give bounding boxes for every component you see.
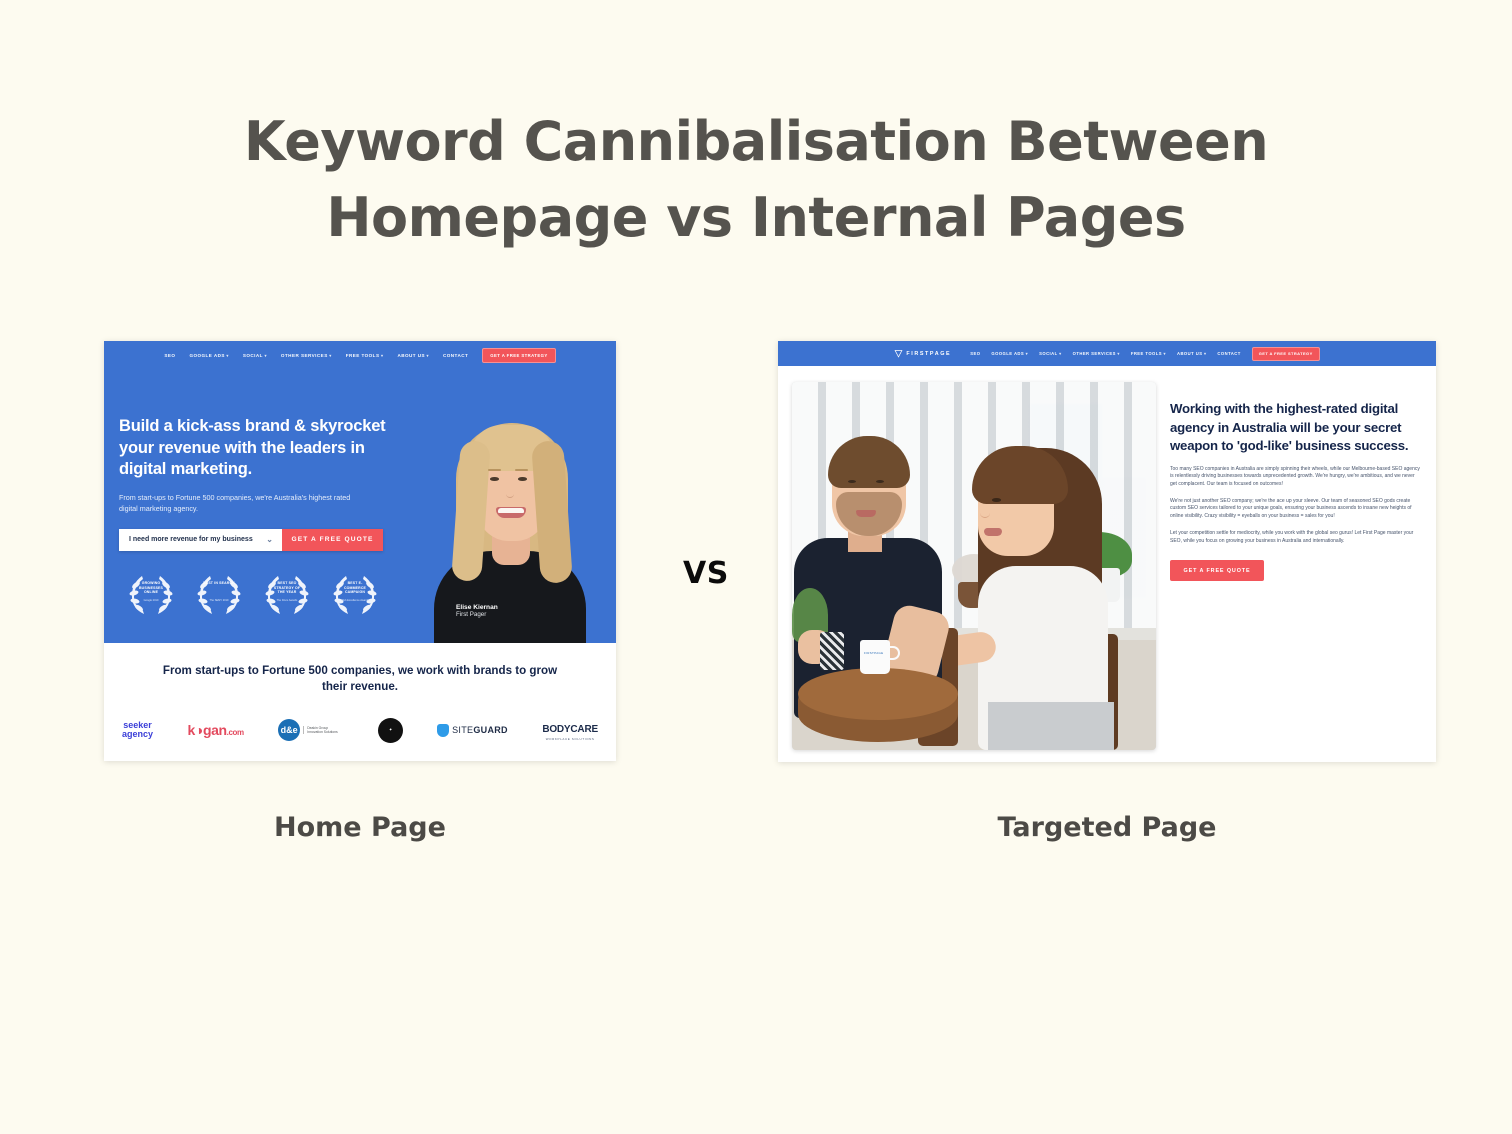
chevron-down-icon: ▾ [264,353,266,358]
chevron-down-icon: ▾ [226,353,228,358]
nav-item-seo[interactable]: SEO [970,351,980,356]
firstpage-logo[interactable]: FIRSTPAGE [894,349,951,358]
nav-cta-get-free-strategy[interactable]: GET A FREE STRATEGY [1252,347,1320,361]
brand-logo-tupperware: Tupperware [450,759,508,761]
chevron-down-icon: ▾ [329,353,331,358]
targetpage-paragraph-1: Too many SEO companies in Australia are … [1170,466,1422,488]
title-line-2: Homepage vs Internal Pages [0,180,1512,256]
nav-item-free-tools[interactable]: FREE TOOLS▾ [1131,351,1166,356]
nav-item-social[interactable]: SOCIAL▾ [243,353,267,358]
nav-item-google-ads[interactable]: GOOGLE ADS▾ [189,353,228,358]
award-subtitle: The Drum Awards [258,599,316,602]
award-title: BEST E-COMMERCE CAMPAIGN [326,581,384,595]
award-title: GROWING BUSINESSES ONLINE [122,581,180,595]
targetpage-paragraph-2: We're not just another SEO company; we'r… [1170,498,1422,520]
brand-logo-bulb [406,759,418,761]
brand-logo-siteguard: SITEGUARD [437,717,508,743]
chevron-down-icon: ▾ [1059,351,1061,356]
nav-item-google-ads[interactable]: GOOGLE ADS▾ [991,351,1028,356]
brand-logo-black-circle: ✦ [378,717,403,743]
hero-copy: Build a kick-ass brand & skyrocket your … [119,416,391,551]
nav-item-other-services[interactable]: OTHER SERVICES▾ [1073,351,1120,356]
brand-logo-timezone: TIMEZONE [122,759,184,761]
chevron-down-icon: ▾ [1026,351,1028,356]
hero-person-photo: Elise Kiernan First Pager [404,399,616,643]
award-title: BEST SEO STRATEGY OF THE YEAR [258,581,316,595]
firstpage-mug [860,640,890,674]
award-subtitle: The SEMY 2019 [190,599,248,602]
targetpage-navbar: FIRSTPAGE SEO GOOGLE ADS▾ SOCIAL▾ OTHER … [778,341,1436,366]
shield-icon [437,724,449,737]
awards-row: GROWING BUSINESSES ONLINE Google 2019 [122,568,384,618]
de-mark: d&e [278,719,300,741]
brand-logo-world-vision: World Vision [540,759,598,761]
brand-logo-kogan: k◑gan.com [188,717,244,743]
kogan-tld: .com [227,728,244,737]
chevron-down-icon: ▾ [1204,351,1206,356]
paper-plane-icon [894,349,903,358]
brands-heading: From start-ups to Fortune 500 companies,… [104,663,616,695]
siteguard-suffix: GUARD [473,725,508,735]
page-title: Keyword Cannibalisation Between Homepage… [0,104,1512,256]
hero-lead-form: I need more revenue for my business ⌄ GE… [119,529,383,551]
kogan-wordmark: k◑gan [188,722,227,738]
chevron-down-icon: ▾ [1117,351,1119,356]
brand-logo-de: d&e Deakin Group Innovation Solutions [278,717,343,743]
brand-logo-windsor-smith: WINDSORSMITH [305,759,374,761]
brands-section: From start-ups to Fortune 500 companies,… [104,643,616,761]
hero-select-value: I need more revenue for my business [129,536,253,543]
award-subtitle: Google 2019 [122,599,180,602]
nav-cta-get-free-strategy[interactable]: GET A FREE STRATEGY [482,348,555,363]
award-badge: GROWING BUSINESSES ONLINE Google 2019 [122,568,180,618]
homepage-screenshot: SEO GOOGLE ADS▾ SOCIAL▾ OTHER SERVICES▾ … [104,341,616,761]
caption-home-page: Home Page [104,812,616,843]
patterned-coffee-cup [820,632,844,670]
chevron-down-icon: ▾ [381,353,383,358]
brand-logo-bodycare: BODYCARE WORKPLACE SOLUTIONS [542,717,598,743]
bodycare-sub: WORKPLACE SOLUTIONS [542,737,598,741]
award-title: BEST IN SEARCH [190,581,248,586]
nav-item-social[interactable]: SOCIAL▾ [1039,351,1062,356]
siteguard-prefix: SITE [452,725,473,735]
nav-item-contact[interactable]: CONTACT [1217,351,1240,356]
person-role: First Pager [456,611,498,618]
hero-get-free-quote-button[interactable]: GET A FREE QUOTE [282,529,383,551]
targetpage-text-column: Working with the highest-rated digital a… [1170,382,1422,762]
nav-item-seo[interactable]: SEO [164,353,175,358]
award-badge: BEST E-COMMERCE CAMPAIGN Web Excellence … [326,568,384,618]
nav-item-about-us[interactable]: ABOUT US▾ [397,353,429,358]
de-subtext: Deakin Group Innovation Solutions [303,726,343,734]
homepage-navbar: SEO GOOGLE ADS▾ SOCIAL▾ OTHER SERVICES▾ … [104,341,616,370]
nav-item-other-services[interactable]: OTHER SERVICES▾ [281,353,332,358]
targetpage-photo: FIRSTPAGE [792,382,1156,750]
targetpage-get-free-quote-button[interactable]: GET A FREE QUOTE [1170,560,1264,581]
chevron-down-icon: ⌄ [266,535,273,544]
award-badge: BEST SEO STRATEGY OF THE YEAR The Drum A… [258,568,316,618]
homepage-hero: Elise Kiernan First Pager Build a kick-a… [104,370,616,643]
hero-subheadline: From start-ups to Fortune 500 companies,… [119,492,371,514]
award-badge: BEST IN SEARCH The SEMY 2019 [190,568,248,618]
firstpage-wordmark: FIRSTPAGE [906,351,951,357]
person-name: Elise Kiernan [456,604,498,611]
hero-headline: Build a kick-ass brand & skyrocket your … [119,416,391,481]
hero-intent-select[interactable]: I need more revenue for my business ⌄ [119,529,282,551]
brand-logo-frank-body: frank body [216,759,272,761]
black-circle-mark: ✦ [378,718,403,743]
targetpage-paragraph-3: Let your competition settle for mediocri… [1170,530,1422,545]
caption-targeted-page: Targeted Page [778,812,1436,843]
hero-person-caption: Elise Kiernan First Pager [456,604,498,618]
targetpage-heading: Working with the highest-rated digital a… [1170,400,1422,456]
targetpage-body: FIRSTPAGE Working with the highest-rated… [778,366,1436,762]
brands-row-2: TIMEZONE frank body WINDSORSMITH Tupperw… [104,757,616,761]
chevron-down-icon: ▾ [427,353,429,358]
award-subtitle: Web Excellence Awards [326,599,384,602]
brands-row-1: seeker agency k◑gan.com d&e Deakin Group… [104,715,616,745]
vs-label: VS [683,556,729,591]
title-line-1: Keyword Cannibalisation Between [0,104,1512,180]
nav-item-free-tools[interactable]: FREE TOOLS▾ [346,353,384,358]
chevron-down-icon: ▾ [1164,351,1166,356]
laurel-wreath-icon [190,568,248,618]
targetpage-screenshot: FIRSTPAGE SEO GOOGLE ADS▾ SOCIAL▾ OTHER … [778,341,1436,762]
nav-item-about-us[interactable]: ABOUT US▾ [1177,351,1206,356]
slide-canvas: Keyword Cannibalisation Between Homepage… [0,0,1512,1134]
brand-logo-seeker-agency: seeker agency [122,717,153,743]
bodycare-name: BODYCARE [542,724,598,735]
seeker-line-2: agency [122,730,153,740]
nav-item-contact[interactable]: CONTACT [443,353,468,358]
